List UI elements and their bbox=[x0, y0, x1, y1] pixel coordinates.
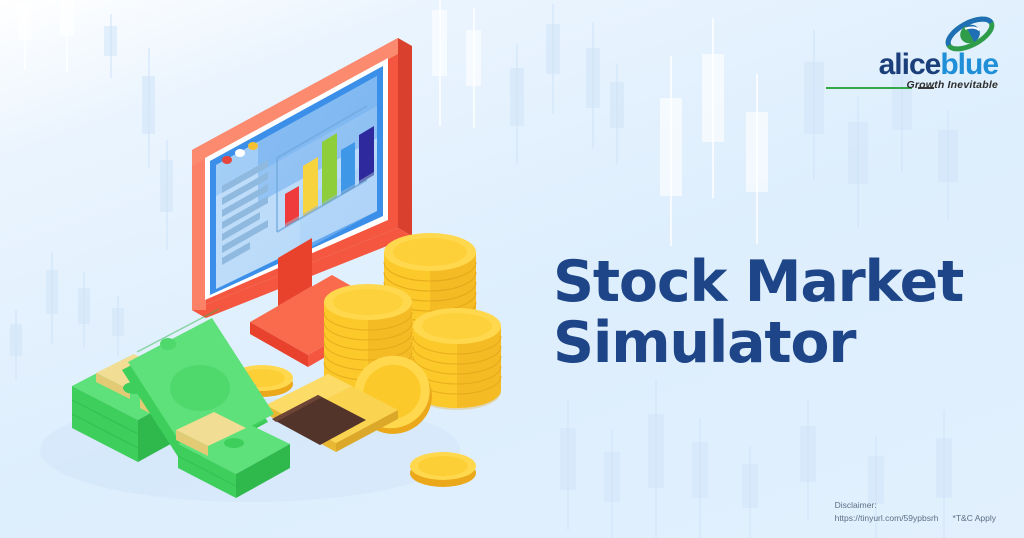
candlestick bbox=[848, 96, 868, 228]
browser-dot-red bbox=[222, 156, 232, 164]
disclaimer-block: Disclaimer: https://tinyurl.com/59ypbsrh… bbox=[835, 499, 996, 524]
disclaimer-label: Disclaimer: bbox=[835, 499, 996, 511]
candlestick bbox=[702, 18, 724, 198]
logo-green-line bbox=[826, 87, 912, 89]
disclaimer-url[interactable]: https://tinyurl.com/59ypbsrh bbox=[835, 513, 939, 523]
aliceblue-logo[interactable]: aliceblue Growth Inevitable bbox=[826, 18, 998, 93]
page-title: Stock Market Simulator bbox=[553, 252, 963, 374]
browser-dot-white bbox=[235, 149, 245, 157]
browser-dot-yellow bbox=[248, 142, 258, 150]
candlestick bbox=[546, 4, 560, 114]
title-line-2: Simulator bbox=[553, 313, 963, 374]
disclaimer-row-2: https://tinyurl.com/59ypbsrh*T&C Apply bbox=[835, 512, 996, 524]
candlestick bbox=[660, 56, 682, 246]
aliceblue-wordmark: aliceblue bbox=[826, 50, 998, 80]
candlestick bbox=[604, 430, 620, 538]
logo-tagline: Growth Inevitable bbox=[907, 79, 999, 91]
candlestick bbox=[560, 400, 576, 530]
banner-canvas: aliceblue Growth Inevitable Stock Market… bbox=[0, 0, 1024, 538]
candlestick bbox=[746, 74, 768, 244]
terms-conditions-note: *T&C Apply bbox=[953, 513, 996, 523]
logo-rule: Growth Inevitable bbox=[826, 83, 998, 93]
stock-market-illustration bbox=[0, 0, 540, 538]
bar-green bbox=[322, 133, 337, 203]
aliceblue-logo-mark bbox=[944, 14, 996, 54]
candlestick bbox=[648, 380, 664, 538]
candlestick bbox=[938, 110, 958, 220]
candlestick bbox=[610, 64, 624, 164]
candlestick bbox=[800, 400, 816, 520]
candlestick bbox=[586, 22, 600, 148]
wordmark-alice: alice bbox=[879, 48, 941, 81]
bar-yellow bbox=[303, 157, 318, 214]
candlestick bbox=[692, 418, 708, 538]
title-line-1: Stock Market bbox=[553, 252, 963, 313]
candlestick bbox=[742, 446, 758, 538]
candlestick bbox=[804, 30, 824, 180]
bar-blue bbox=[341, 142, 355, 192]
coin-small-bottom bbox=[410, 452, 476, 487]
bar-navy bbox=[359, 126, 374, 181]
